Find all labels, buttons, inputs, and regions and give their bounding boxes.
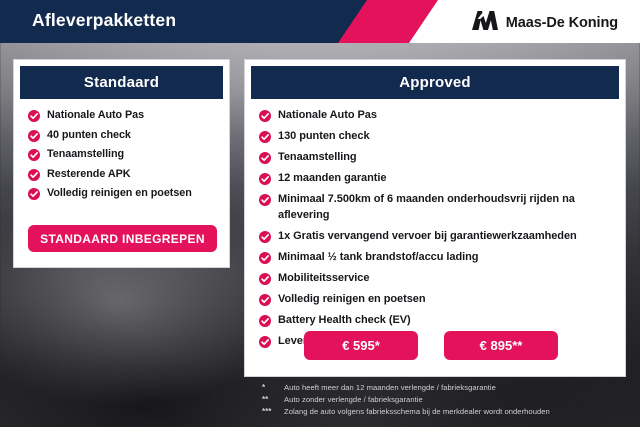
check-circle-icon [28,129,40,141]
feature-label: Volledig reinigen en poetsen [47,186,192,201]
feature-label: Mobiliteitsservice [278,271,369,287]
check-circle-icon [259,193,271,205]
feature-label: Nationale Auto Pas [47,108,144,123]
list-item: 1x Gratis vervangend vervoer bij garanti… [259,229,613,245]
feature-list-standaard: Nationale Auto Pas 40 punten check [14,108,229,201]
list-item: Tenaamstelling [259,150,613,166]
feature-label: Resterende APK [47,167,131,182]
footnote-text: Auto heeft meer dan 12 maanden verlengde… [284,383,496,393]
feature-label: Nationale Auto Pas [278,108,377,124]
feature-label: 40 punten check [47,128,131,143]
footnote-text: Auto zonder verlengde / fabrieksgarantie [284,395,423,405]
feature-list-approved: Nationale Auto Pas 130 punten check [245,108,625,349]
card-title: Standaard [84,74,159,91]
check-circle-icon [259,230,271,242]
feature-label: 130 punten check [278,129,370,145]
footnote-single-asterisk: * Auto heeft meer dan 12 maanden verleng… [262,383,632,393]
price-button-895[interactable]: € 895** [444,331,558,360]
list-item: Tenaamstelling [28,147,217,162]
feature-label: Minimaal 7.500km of 6 maanden onderhouds… [278,192,613,223]
page-title: Afleverpakketten [32,10,176,31]
price-button-row: € 595* € 895** [245,331,625,360]
list-item: 130 punten check [259,129,613,145]
footnote-text: Zolang de auto volgens fabrieksschema bi… [284,407,550,417]
list-item: Battery Health check (EV) [259,313,613,329]
footnote-triple-asterisk: *** Zolang de auto volgens fabrieksschem… [262,407,632,417]
feature-label: Tenaamstelling [47,147,124,162]
list-item: Minimaal 7.500km of 6 maanden onderhouds… [259,192,613,223]
feature-label: Volledig reinigen en poetsen [278,292,426,308]
feature-label: Battery Health check (EV) [278,313,411,329]
card-title: Approved [399,74,471,91]
check-circle-icon [259,314,271,326]
package-card-standaard: Standaard Nationale Auto Pas [13,59,230,268]
price-button-595[interactable]: € 595* [304,331,418,360]
list-item: Minimaal ½ tank brandstof/accu lading [259,250,613,266]
check-circle-icon [28,168,40,180]
card-header-approved: Approved [251,66,619,99]
check-circle-icon [259,130,271,142]
footnote-marker: * [262,383,278,392]
maas-de-koning-m-logo-icon [472,11,498,35]
check-circle-icon [259,109,271,121]
check-circle-icon [259,172,271,184]
brand-logo: Maas-De Koning [472,11,618,35]
footnote-marker: *** [262,407,278,416]
card-header-standaard: Standaard [20,66,223,99]
list-item: Mobiliteitsservice [259,271,613,287]
check-circle-icon [259,293,271,305]
standaard-inbegrepen-button[interactable]: STANDAARD INBEGREPEN [28,225,217,252]
list-item: Resterende APK [28,167,217,182]
check-circle-icon [28,148,40,160]
list-item: Nationale Auto Pas [259,108,613,124]
list-item: 40 punten check [28,128,217,143]
list-item: Volledig reinigen en poetsen [28,186,217,201]
check-circle-icon [259,151,271,163]
check-circle-icon [259,251,271,263]
feature-label: Minimaal ½ tank brandstof/accu lading [278,250,478,266]
list-item: Nationale Auto Pas [28,108,217,123]
brand-name: Maas-De Koning [506,15,618,31]
feature-label: 12 maanden garantie [278,171,386,187]
package-card-approved: Approved Nationale Auto Pas [244,59,626,377]
check-circle-icon [259,272,271,284]
feature-label: 1x Gratis vervangend vervoer bij garanti… [278,229,577,245]
feature-label: Tenaamstelling [278,150,357,166]
check-circle-icon [28,109,40,121]
afleverpakketten-page: Afleverpakketten Maas-De Koning Standaar… [0,0,640,427]
footnotes: * Auto heeft meer dan 12 maanden verleng… [262,383,632,419]
list-item: 12 maanden garantie [259,171,613,187]
footnote-double-asterisk: ** Auto zonder verlengde / fabrieksgaran… [262,395,632,405]
footnote-marker: ** [262,395,278,404]
list-item: Volledig reinigen en poetsen [259,292,613,308]
check-circle-icon [28,187,40,199]
page-header: Afleverpakketten Maas-De Koning [0,0,640,43]
